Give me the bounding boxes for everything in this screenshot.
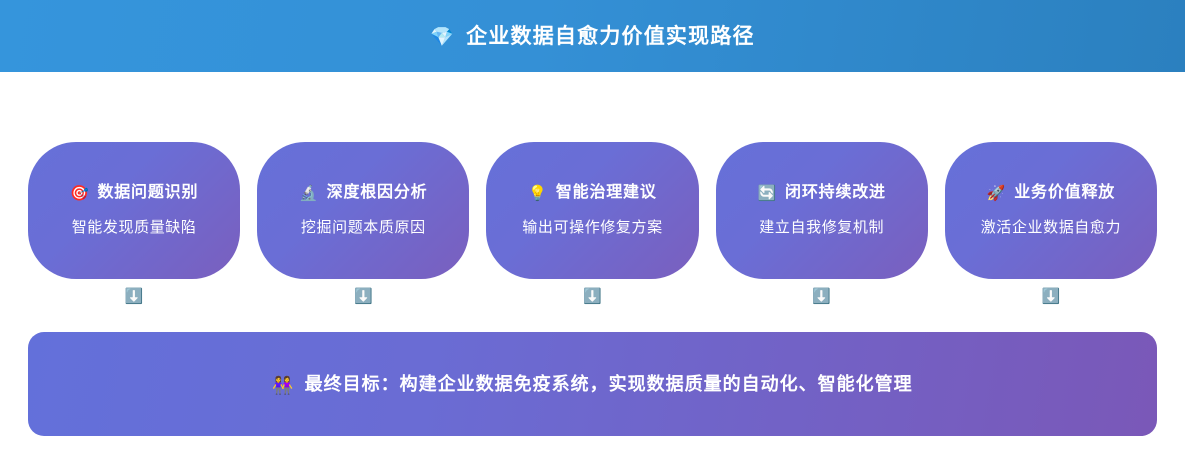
page-title-text: 企业数据自愈力价值实现路径 bbox=[466, 26, 755, 47]
down-arrow-icon: ⬇️ bbox=[1042, 288, 1061, 306]
step-card-description: 激活企业数据自愈力 bbox=[981, 220, 1121, 235]
step-card-title: 深度根因分析 bbox=[327, 185, 428, 201]
step-card-data-problem-identification[interactable]: 🎯 数据问题识别 智能发现质量缺陷 bbox=[28, 142, 240, 279]
step-card-business-value-release[interactable]: 🚀 业务价值释放 激活企业数据自愈力 bbox=[945, 142, 1157, 279]
step-column-1: 🎯 数据问题识别 智能发现质量缺陷 ⬇️ bbox=[28, 142, 240, 305]
down-arrow-icon: ⬇️ bbox=[125, 288, 144, 306]
step-column-2: 🔬 深度根因分析 挖掘问题本质原因 ⬇️ bbox=[257, 142, 469, 305]
page-title: 💎 企业数据自愈力价值实现路径 bbox=[430, 26, 754, 47]
step-column-3: 💡 智能治理建议 输出可操作修复方案 ⬇️ bbox=[486, 142, 698, 305]
step-card-title: 智能治理建议 bbox=[556, 185, 657, 201]
step-card-closed-loop-improvement[interactable]: 🔄 闭环持续改进 建立自我修复机制 bbox=[716, 142, 928, 279]
down-arrow-icon: ⬇️ bbox=[812, 288, 831, 306]
process-steps-row: 🎯 数据问题识别 智能发现质量缺陷 ⬇️ 🔬 深度根因分析 挖掘问题本质原因 ⬇… bbox=[28, 142, 1157, 305]
step-card-title: 闭环持续改进 bbox=[785, 185, 886, 201]
light-bulb-icon: 💡 bbox=[528, 186, 547, 201]
step-card-heading: 🔬 深度根因分析 bbox=[299, 185, 427, 201]
step-card-heading: 💡 智能治理建议 bbox=[528, 185, 656, 201]
step-card-description: 建立自我修复机制 bbox=[759, 220, 884, 235]
header-banner: 💎 企业数据自愈力价值实现路径 bbox=[0, 0, 1185, 72]
step-card-heading: 🔄 闭环持续改进 bbox=[758, 185, 886, 201]
target-icon: 🎯 bbox=[70, 186, 89, 201]
infographic-page: 💎 企业数据自愈力价值实现路径 🎯 数据问题识别 智能发现质量缺陷 ⬇️ 🔬 深… bbox=[0, 0, 1185, 461]
final-goal-statement: 最终目标：构建企业数据免疫系统，实现数据质量的自动化、智能化管理 bbox=[305, 375, 913, 393]
step-card-governance-advice[interactable]: 💡 智能治理建议 输出可操作修复方案 bbox=[486, 142, 698, 279]
final-goal-text: 👭 最终目标：构建企业数据免疫系统，实现数据质量的自动化、智能化管理 bbox=[272, 375, 912, 393]
step-card-title: 业务价值释放 bbox=[1014, 185, 1115, 201]
gem-stone-icon: 💎 bbox=[430, 28, 455, 47]
microscope-icon: 🔬 bbox=[299, 186, 318, 201]
step-column-4: 🔄 闭环持续改进 建立自我修复机制 ⬇️ bbox=[716, 142, 928, 305]
step-card-title: 数据问题识别 bbox=[97, 185, 198, 201]
cycle-arrows-icon: 🔄 bbox=[758, 186, 777, 201]
step-card-heading: 🎯 数据问题识别 bbox=[70, 185, 198, 201]
step-card-description: 挖掘问题本质原因 bbox=[301, 220, 426, 235]
step-card-description: 输出可操作修复方案 bbox=[522, 220, 662, 235]
rocket-icon: 🚀 bbox=[987, 186, 1006, 201]
two-people-icon: 👭 bbox=[272, 377, 294, 394]
final-goal-banner: 👭 最终目标：构建企业数据免疫系统，实现数据质量的自动化、智能化管理 bbox=[28, 332, 1157, 436]
step-card-root-cause-analysis[interactable]: 🔬 深度根因分析 挖掘问题本质原因 bbox=[257, 142, 469, 279]
down-arrow-icon: ⬇️ bbox=[583, 288, 602, 306]
down-arrow-icon: ⬇️ bbox=[354, 288, 373, 306]
step-column-5: 🚀 业务价值释放 激活企业数据自愈力 ⬇️ bbox=[945, 142, 1157, 305]
step-card-description: 智能发现质量缺陷 bbox=[72, 220, 197, 235]
step-card-heading: 🚀 业务价值释放 bbox=[987, 185, 1115, 201]
